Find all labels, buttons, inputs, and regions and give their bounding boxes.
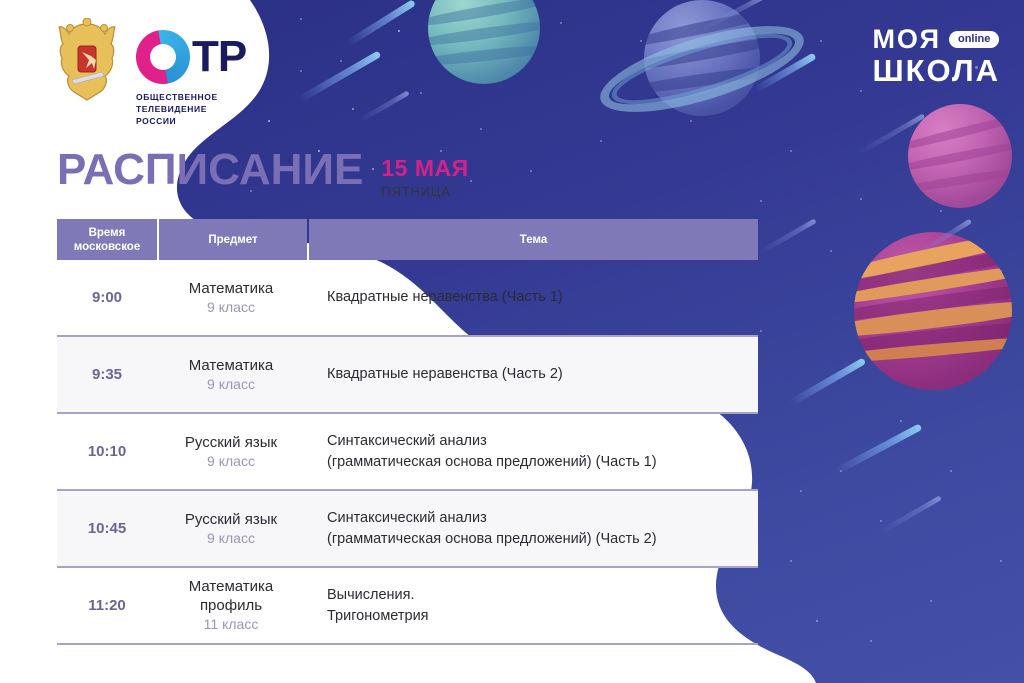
otr-subtitle: ОБЩЕСТВЕННОЕ ТЕЛЕВИДЕНИЕ РОССИИ: [136, 91, 246, 127]
star-icon: [816, 620, 818, 622]
cell-topic: Вычисления.Тригонометрия: [305, 585, 758, 627]
school-logo-line2: ШКОЛА: [872, 54, 1000, 88]
table-row: 9:35Математика9 классКвадратные неравенс…: [57, 337, 758, 414]
school-logo-line1: МОЯ: [872, 24, 941, 54]
cell-time: 9:00: [57, 289, 157, 306]
star-icon: [340, 60, 342, 62]
star-icon: [930, 600, 932, 602]
star-icon: [1000, 560, 1002, 562]
page-title-block: РАСПИСАНИЕ 15 МАЯ ПЯТНИЦА: [57, 146, 469, 200]
cell-grade: 9 класс: [157, 529, 305, 548]
cell-topic-line1: Вычисления.: [327, 585, 758, 606]
cell-topic-line2: (грамматическая основа предложений) (Час…: [327, 452, 758, 473]
cell-subject-name: Русский язык: [157, 433, 305, 452]
cell-grade: 11 класс: [157, 615, 305, 634]
star-icon: [560, 22, 562, 24]
pink-planet-icon: [908, 104, 1012, 208]
schedule-date: 15 МАЯ: [381, 156, 468, 181]
otr-letters: ТР: [192, 35, 246, 79]
otr-subtitle-line1: ОБЩЕСТВЕННОЕ: [136, 91, 246, 103]
star-icon: [860, 90, 862, 92]
moya-shkola-logo: МОЯ online ШКОЛА: [872, 24, 1000, 88]
cell-topic-line2: Тригонометрия: [327, 606, 758, 627]
online-badge: online: [949, 31, 999, 48]
otr-subtitle-line3: РОССИИ: [136, 115, 246, 127]
cell-topic-line1: Синтаксический анализ: [327, 431, 758, 452]
cell-time: 10:45: [57, 520, 157, 537]
cell-subject: Математика9 класс: [157, 279, 305, 317]
star-icon: [268, 120, 270, 122]
cell-topic-line2: (грамматическая основа предложений) (Час…: [327, 529, 758, 550]
cell-subject: Математика9 класс: [157, 356, 305, 394]
star-icon: [398, 30, 400, 32]
table-header-row: Время московское Предмет Тема: [57, 219, 758, 260]
saturn-planet-icon: [604, 0, 800, 146]
table-row: 10:45Русский язык9 классСинтаксический а…: [57, 491, 758, 568]
cell-time: 9:35: [57, 366, 157, 383]
cell-topic-line1: Синтаксический анализ: [327, 508, 758, 529]
star-icon: [820, 40, 822, 42]
schedule-weekday: ПЯТНИЦА: [381, 183, 468, 200]
column-header-time-line2: московское: [74, 240, 140, 254]
otr-subtitle-line2: ТЕЛЕВИДЕНИЕ: [136, 103, 246, 115]
logo-group: ТР ОБЩЕСТВЕННОЕ ТЕЛЕВИДЕНИЕ РОССИИ: [56, 18, 246, 127]
schedule-table: Время московское Предмет Тема 9:00Матема…: [57, 219, 758, 645]
star-icon: [530, 170, 532, 172]
cell-subject-name: Математика: [157, 356, 305, 375]
page-title: РАСПИСАНИЕ: [57, 146, 363, 194]
star-icon: [950, 470, 952, 472]
cell-grade: 9 класс: [157, 452, 305, 471]
star-icon: [860, 198, 862, 200]
cell-subject: Русский язык9 класс: [157, 510, 305, 548]
star-icon: [480, 128, 482, 130]
cell-topic: Квадратные неравенства (Часть 1): [305, 287, 758, 308]
star-icon: [420, 92, 422, 94]
column-header-time: Время московское: [57, 219, 157, 260]
star-icon: [830, 250, 832, 252]
star-icon: [760, 200, 762, 202]
star-icon: [300, 70, 302, 72]
striped-planet-icon: [854, 232, 1012, 390]
cell-time: 11:20: [57, 597, 157, 614]
star-icon: [790, 560, 792, 562]
cell-topic: Синтаксический анализ(грамматическая осн…: [305, 508, 758, 550]
table-row: 10:10Русский язык9 классСинтаксический а…: [57, 414, 758, 491]
star-icon: [760, 330, 762, 332]
russia-coat-of-arms-icon: [56, 18, 118, 110]
cell-topic: Синтаксический анализ(грамматическая осн…: [305, 431, 758, 473]
star-icon: [600, 140, 602, 142]
cell-subject: Математикапрофиль11 класс: [157, 577, 305, 634]
cell-subject-line2: профиль: [157, 596, 305, 615]
column-header-time-line1: Время: [74, 226, 140, 240]
cell-subject-name: Математика: [157, 577, 305, 596]
table-row: 9:00Математика9 классКвадратные неравенс…: [57, 260, 758, 337]
star-icon: [300, 18, 302, 20]
cell-subject-name: Русский язык: [157, 510, 305, 529]
star-icon: [470, 180, 472, 182]
date-block: 15 МАЯ ПЯТНИЦА: [381, 156, 468, 200]
star-icon: [870, 640, 872, 642]
star-icon: [900, 420, 902, 422]
column-header-topic: Тема: [309, 219, 758, 260]
cell-subject-name: Математика: [157, 279, 305, 298]
star-icon: [352, 108, 354, 110]
star-icon: [940, 210, 942, 212]
table-row: 11:20Математикапрофиль11 классВычисления…: [57, 568, 758, 645]
cell-grade: 9 класс: [157, 375, 305, 394]
table-body: 9:00Математика9 классКвадратные неравенс…: [57, 260, 758, 645]
star-icon: [880, 520, 882, 522]
cell-topic-line1: Квадратные неравенства (Часть 1): [327, 287, 758, 308]
cell-topic-line1: Квадратные неравенства (Часть 2): [327, 364, 758, 385]
cell-time: 10:10: [57, 443, 157, 460]
cell-grade: 9 класс: [157, 298, 305, 317]
otr-circle-icon: [136, 30, 190, 84]
star-icon: [800, 490, 802, 492]
cell-subject: Русский язык9 класс: [157, 433, 305, 471]
otr-logo: ТР ОБЩЕСТВЕННОЕ ТЕЛЕВИДЕНИЕ РОССИИ: [136, 18, 246, 127]
cell-topic: Квадратные неравенства (Часть 2): [305, 364, 758, 385]
column-header-subject: Предмет: [159, 219, 307, 260]
star-icon: [790, 150, 792, 152]
